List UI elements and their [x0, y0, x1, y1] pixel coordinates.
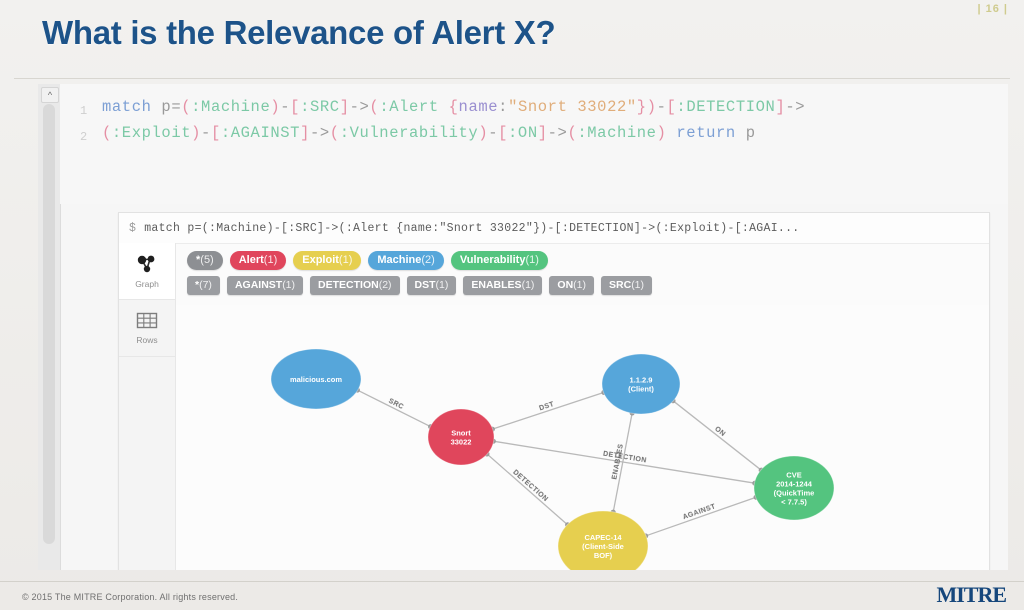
code-token: -	[201, 124, 211, 142]
code-token: name	[459, 98, 499, 116]
sidebar-item-rows[interactable]: Rows	[119, 300, 175, 357]
code-token: (	[102, 124, 112, 142]
legend: *(5)Alert(1)Exploit(1)Machine(2)Vulnerab…	[119, 244, 989, 305]
graph-edge[interactable]: ON	[670, 398, 764, 473]
scroll-up-arrow-icon[interactable]: ^	[41, 87, 59, 103]
graph-visualization[interactable]: SRCDSTDETECTIONDETECTIONENABLESAGAINSTON…	[176, 305, 989, 570]
edge-label: DETECTION	[511, 469, 549, 503]
result-frame: $ match p=(:Machine)-[:SRC]->(:Alert {na…	[118, 212, 990, 570]
code-token: :Machine	[577, 124, 656, 142]
label-pill-any[interactable]: *(5)	[187, 251, 223, 270]
node-label: Snort	[451, 429, 471, 438]
code-token: :Machine	[191, 98, 270, 116]
node-label: 33022	[451, 438, 472, 447]
graph-edge[interactable]: ENABLES	[611, 410, 635, 515]
pill-label: Exploit	[302, 254, 339, 266]
rail-label-rows: Rows	[136, 335, 157, 345]
pill-count: (1)	[339, 254, 352, 266]
pill-count: (2)	[421, 254, 434, 266]
code-token: {	[439, 98, 459, 116]
code-token: (	[369, 98, 379, 116]
code-token: -	[488, 124, 498, 142]
title-divider	[14, 78, 1010, 79]
node-label: (Client-Side	[582, 542, 624, 551]
code-token: :DETECTION	[676, 98, 775, 116]
pill-count: (1)	[631, 279, 644, 291]
pill-count: (1)	[264, 254, 277, 266]
query-editor[interactable]: 1 2 match p=(:Machine)-[:SRC]->(:Alert {…	[60, 84, 1008, 204]
node-label: CVE	[786, 471, 801, 480]
rail-label-graph: Graph	[135, 279, 159, 289]
code-token: ->	[350, 98, 370, 116]
view-mode-rail: Graph Rows	[119, 243, 176, 570]
node-label: (Client)	[628, 385, 654, 394]
page-title: What is the Relevance of Alert X?	[42, 14, 555, 52]
code-token: [	[667, 98, 677, 116]
label-pill-vulnerability[interactable]: Vulnerability(1)	[451, 251, 548, 270]
node-label: 2014-1244	[776, 480, 813, 489]
prompt-icon: $	[129, 222, 136, 235]
code-token: ->	[548, 124, 568, 142]
code-token: ->	[310, 124, 330, 142]
node-label-pills: *(5)Alert(1)Exploit(1)Machine(2)Vulnerab…	[187, 251, 981, 270]
label-pill-exploit[interactable]: Exploit(1)	[293, 251, 361, 270]
code-token: ]	[775, 98, 785, 116]
node-graph-icon	[135, 254, 159, 276]
editor-gutter: 1 2	[80, 98, 87, 150]
pill-count: (1)	[573, 279, 586, 291]
code-token: :Exploit	[112, 124, 191, 142]
code-token: :AGAINST	[221, 124, 300, 142]
node-label: malicious.com	[290, 375, 342, 384]
graph-canvas[interactable]: SRCDSTDETECTIONDETECTIONENABLESAGAINSTON…	[176, 305, 989, 570]
code-token: match	[102, 98, 152, 116]
frame-query-bar[interactable]: $ match p=(:Machine)-[:SRC]->(:Alert {na…	[119, 213, 989, 244]
node-label: (QuickTime	[774, 489, 815, 498]
code-token: :	[498, 98, 508, 116]
pill-count: (7)	[199, 279, 212, 291]
code-line-1: match p=(:Machine)-[:SRC]->(:Alert {name…	[102, 94, 1000, 120]
graph-node[interactable]: malicious.com	[271, 349, 361, 409]
pill-count: (5)	[200, 254, 213, 266]
pill-count: (1)	[436, 279, 449, 291]
code-token: (	[330, 124, 340, 142]
editor-text[interactable]: match p=(:Machine)-[:SRC]->(:Alert {name…	[102, 94, 1000, 146]
code-token: ]	[300, 124, 310, 142]
pill-count: (1)	[525, 254, 538, 266]
scrollbar-thumb[interactable]	[43, 104, 55, 544]
pill-label: ENABLES	[471, 279, 521, 291]
pill-label: Vulnerability	[460, 254, 526, 266]
pill-count: (1)	[522, 279, 535, 291]
pill-label: Alert	[239, 254, 264, 266]
rel-pill-src[interactable]: SRC(1)	[601, 276, 652, 295]
graph-edge[interactable]: AGAINST	[643, 495, 759, 539]
rel-pill-on[interactable]: ON(1)	[549, 276, 594, 295]
code-token: :Vulnerability	[340, 124, 479, 142]
pill-label: DST	[415, 279, 436, 291]
code-token: )	[191, 124, 201, 142]
pill-label: AGAINST	[235, 279, 282, 291]
rel-pill-enables[interactable]: ENABLES(1)	[463, 276, 542, 295]
code-token: :Alert	[379, 98, 438, 116]
code-token: })	[637, 98, 657, 116]
graph-edge[interactable]: DST	[490, 390, 607, 432]
code-token: ->	[785, 98, 805, 116]
graph-edge[interactable]: SRC	[355, 387, 434, 429]
pill-count: (1)	[282, 279, 295, 291]
pill-label: SRC	[609, 279, 631, 291]
relationship-type-pills: *(7)AGAINST(1)DETECTION(2)DST(1)ENABLES(…	[187, 276, 981, 295]
gutter-line-1: 1	[80, 98, 87, 124]
graph-node[interactable]: Snort33022	[428, 409, 494, 465]
gutter-line-2: 2	[80, 124, 87, 150]
node-label: BOF)	[594, 551, 613, 560]
code-token: -	[280, 98, 290, 116]
copyright-notice: © 2015 The MITRE Corporation. All rights…	[22, 592, 238, 602]
rel-pill-any[interactable]: *(7)	[187, 276, 220, 295]
code-token: [	[290, 98, 300, 116]
code-token: :SRC	[300, 98, 340, 116]
code-token: )	[657, 124, 667, 142]
node-label: CAPEC-14	[584, 533, 622, 542]
code-line-2: (:Exploit)-[:AGAINST]->(:Vulnerability)-…	[102, 120, 1000, 146]
pill-label: ON	[557, 279, 573, 291]
code-token: "Snort 33022"	[508, 98, 637, 116]
pill-label: DETECTION	[318, 279, 379, 291]
code-token: [	[211, 124, 221, 142]
code-token: -	[657, 98, 667, 116]
code-token: p	[736, 124, 756, 142]
frame-query-text: match p=(:Machine)-[:SRC]->(:Alert {name…	[144, 222, 799, 235]
rel-pill-dst[interactable]: DST(1)	[407, 276, 457, 295]
pill-label: Machine	[377, 254, 421, 266]
sidebar-item-graph[interactable]: Graph	[119, 243, 175, 300]
edge-label: ON	[713, 426, 726, 438]
code-token: )	[270, 98, 280, 116]
pill-count: (2)	[379, 279, 392, 291]
code-token: :ON	[508, 124, 538, 142]
page-number: | 16 |	[977, 3, 1008, 15]
rel-pill-detection[interactable]: DETECTION(2)	[310, 276, 400, 295]
code-token: [	[498, 124, 508, 142]
graph-edge[interactable]: DETECTION	[484, 451, 570, 527]
graph-node[interactable]: CAPEC-14(Client-SideBOF)	[558, 511, 648, 570]
code-token: return	[667, 124, 736, 142]
label-pill-alert[interactable]: Alert(1)	[230, 251, 287, 270]
code-token: )	[478, 124, 488, 142]
mitre-logo: MITRE	[936, 582, 1006, 608]
vertical-scrollbar[interactable]: ^	[38, 84, 61, 570]
rel-pill-against[interactable]: AGAINST(1)	[227, 276, 303, 295]
graph-node[interactable]: CVE2014-1244(QuickTime< 7.7.5)	[754, 456, 834, 520]
node-label: < 7.7.5)	[781, 498, 807, 507]
edge-label: DST	[538, 401, 555, 413]
slide: | 16 | What is the Relevance of Alert X?…	[0, 0, 1024, 610]
label-pill-machine[interactable]: Machine(2)	[368, 251, 443, 270]
neo4j-browser-screenshot: ^ 1 2 match p=(:Machine)-[:SRC]->(:Alert…	[38, 84, 1008, 570]
table-grid-icon	[135, 311, 159, 332]
graph-node[interactable]: 1.1.2.9(Client)	[602, 354, 680, 414]
code-token: ]	[538, 124, 548, 142]
code-token: (	[181, 98, 191, 116]
node-label: 1.1.2.9	[630, 376, 653, 385]
code-token: (	[567, 124, 577, 142]
footer-divider	[0, 581, 1024, 582]
code-token: ]	[340, 98, 350, 116]
code-token: p=	[152, 98, 182, 116]
